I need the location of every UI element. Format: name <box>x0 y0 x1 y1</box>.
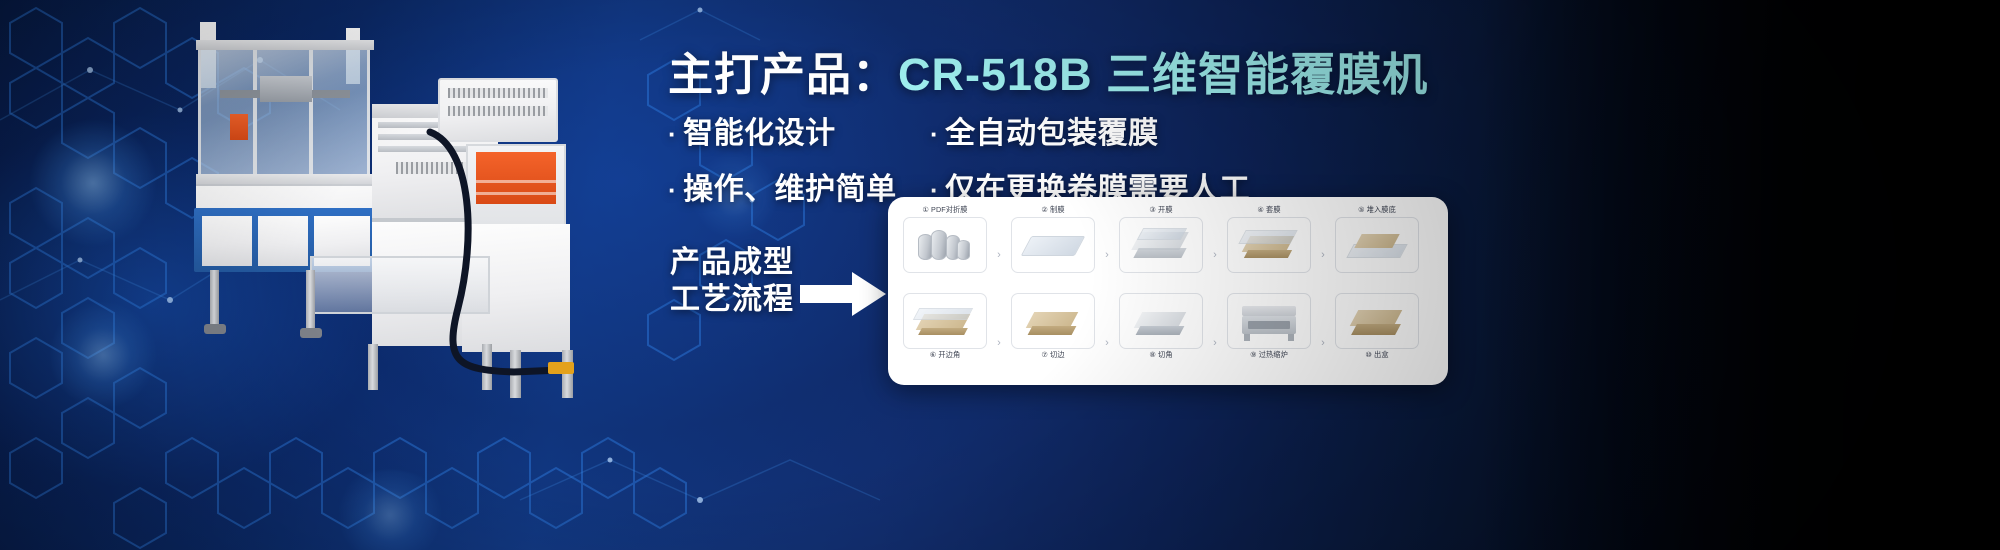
chevron-right-icon: › <box>1316 337 1330 349</box>
step-illustration-open-film-pocket <box>1119 217 1203 273</box>
product-photo-machine <box>110 18 670 418</box>
bullet-row-1: ·智能化设计 ·全自动包装覆膜 <box>668 108 1250 152</box>
step-illustration-cut-corner <box>1119 293 1203 349</box>
bullet-dot-icon: · <box>930 119 939 149</box>
chevron-right-icon: › <box>1208 337 1222 349</box>
callout-line-1: 产品成型 <box>670 245 794 282</box>
step-label: ⑥ 开边角 <box>930 350 961 360</box>
step-label: ① PDF对折膜 <box>922 205 967 215</box>
process-flow-row-2: ⑥ 开边角 › ⑦ 切边 › <box>898 293 1438 379</box>
bullet-item-2: ·全自动包装覆膜 <box>930 108 1159 152</box>
cable-hose <box>410 118 610 398</box>
bullet-label-3: 操作、维护简单 <box>683 173 897 206</box>
chevron-right-icon: › <box>1100 249 1114 261</box>
feature-bullet-list: ·智能化设计 ·全自动包装覆膜 ·操作、维护简单 ·仅在更换卷膜需要人工 <box>668 108 1250 208</box>
process-step: ⑥ 开边角 <box>898 293 992 360</box>
title-white-part: 主打产品： <box>668 49 898 100</box>
right-dark-overlay <box>1480 0 2000 550</box>
process-step: ② 制膜 <box>1006 205 1100 273</box>
bullet-item-1: ·智能化设计 <box>668 108 930 152</box>
step-label: ⑦ 切边 <box>1041 350 1064 360</box>
step-label: ② 制膜 <box>1041 205 1064 215</box>
arrow-right-icon <box>800 272 886 316</box>
title-cyan-part: CR-518B 三维智能覆膜机 <box>898 49 1428 100</box>
step-illustration-finished-box-output <box>1335 293 1419 349</box>
step-label: ⑧ 切角 <box>1149 350 1172 360</box>
step-illustration-flat-film-sheet <box>1011 217 1095 273</box>
bullet-label-2: 全自动包装覆膜 <box>945 117 1159 150</box>
chevron-right-icon: › <box>1316 249 1330 261</box>
glow-spot-3 <box>330 470 450 550</box>
process-step: ⑧ 切角 <box>1114 293 1208 360</box>
chevron-right-icon: › <box>992 249 1006 261</box>
step-label: ④ 套膜 <box>1257 205 1280 215</box>
step-label: ⑨ 过热缩炉 <box>1250 350 1288 360</box>
process-step: ⑦ 切边 <box>1006 293 1100 360</box>
step-label: ⑩ 出盒 <box>1365 350 1388 360</box>
process-step: ⑤ 堆入膜底 <box>1330 205 1424 273</box>
step-label: ⑤ 堆入膜底 <box>1358 205 1396 215</box>
step-label: ③ 开膜 <box>1149 205 1172 215</box>
chevron-right-icon: › <box>1100 337 1114 349</box>
process-step: ⑩ 出盒 <box>1330 293 1424 360</box>
process-flow-row-1: ① PDF对折膜 › ② 制膜 <box>898 205 1438 291</box>
step-illustration-film-over-stack <box>1227 217 1311 273</box>
process-step: ③ 开膜 <box>1114 205 1208 273</box>
bullet-dot-icon: · <box>668 175 677 205</box>
process-step: ④ 套膜 <box>1222 205 1316 273</box>
step-illustration-open-corner <box>903 293 987 349</box>
bullet-item-3: ·操作、维护简单 <box>668 164 930 208</box>
callout-line-2: 工艺流程 <box>670 282 794 319</box>
bullet-label-1: 智能化设计 <box>683 117 836 150</box>
process-flow-callout: 产品成型 工艺流程 <box>670 245 794 318</box>
product-banner: 主打产品：CR-518B 三维智能覆膜机 ·智能化设计 ·全自动包装覆膜 ·操作… <box>0 0 2000 550</box>
bullet-dot-icon: · <box>668 119 677 149</box>
chevron-right-icon: › <box>1208 249 1222 261</box>
step-illustration-stack-into-film-base <box>1335 217 1419 273</box>
process-flow-diagram: ① PDF对折膜 › ② 制膜 <box>888 197 1448 385</box>
page-title: 主打产品：CR-518B 三维智能覆膜机 <box>668 38 1428 103</box>
process-step: ① PDF对折膜 <box>898 205 992 273</box>
step-illustration-film-rolls <box>903 217 987 273</box>
step-illustration-trim-edge <box>1011 293 1095 349</box>
process-step: ⑨ 过热缩炉 <box>1222 293 1316 360</box>
chevron-right-icon: › <box>992 337 1006 349</box>
step-illustration-shrink-tunnel-oven <box>1227 293 1311 349</box>
